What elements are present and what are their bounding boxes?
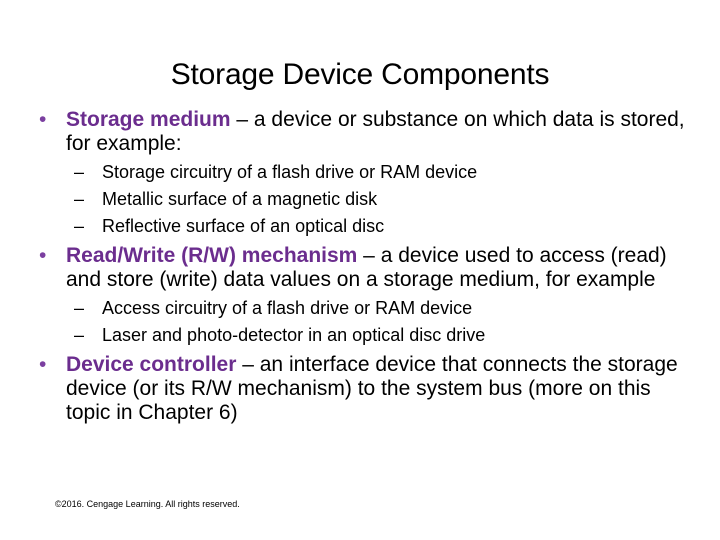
bullet-marker-icon: • <box>39 108 46 132</box>
sub-list-storage-medium: – Storage circuitry of a flash drive or … <box>28 161 692 237</box>
bullet-marker-icon: • <box>39 244 46 268</box>
sub-bullet-label: Storage circuitry of a flash drive or RA… <box>102 162 477 182</box>
sub-bullet-label: Reflective surface of an optical disc <box>102 216 384 236</box>
bullet-term-storage-medium: Storage medium <box>66 108 231 131</box>
page-title: Storage Device Components <box>0 58 720 91</box>
bullet-term-read-write-mechanism: Read/Write (R/W) mechanism <box>66 244 357 267</box>
copyright-footer: ©2016. Cengage Learning. All rights rese… <box>55 498 240 510</box>
sub-bullet-label: Laser and photo-detector in an optical d… <box>102 325 485 345</box>
bullet-item-device-controller: • Device controller – an interface devic… <box>28 353 692 425</box>
sub-bullet-marker-icon: – <box>74 161 84 183</box>
sub-bullet-item: – Reflective surface of an optical disc <box>28 215 692 237</box>
sub-bullet-item: – Metallic surface of a magnetic disk <box>28 188 692 210</box>
bullet-group-device-controller: • Device controller – an interface devic… <box>28 353 692 425</box>
sub-bullet-label: Metallic surface of a magnetic disk <box>102 189 377 209</box>
sub-list-read-write-mechanism: – Access circuitry of a flash drive or R… <box>28 297 692 346</box>
presentation-slide: Storage Device Components • Storage medi… <box>0 0 720 540</box>
bullet-term-device-controller: Device controller <box>66 353 236 376</box>
sub-bullet-marker-icon: – <box>74 215 84 237</box>
bullet-group-storage-medium: • Storage medium – a device or substance… <box>28 108 692 237</box>
bullet-item-read-write-mechanism: • Read/Write (R/W) mechanism – a device … <box>28 244 692 292</box>
sub-bullet-item: – Storage circuitry of a flash drive or … <box>28 161 692 183</box>
bullet-item-storage-medium: • Storage medium – a device or substance… <box>28 108 692 156</box>
bullet-marker-icon: • <box>39 353 46 377</box>
sub-bullet-item: – Laser and photo-detector in an optical… <box>28 324 692 346</box>
sub-bullet-label: Access circuitry of a flash drive or RAM… <box>102 298 472 318</box>
sub-bullet-marker-icon: – <box>74 188 84 210</box>
bullet-group-read-write-mechanism: • Read/Write (R/W) mechanism – a device … <box>28 244 692 346</box>
slide-body: • Storage medium – a device or substance… <box>28 108 692 427</box>
sub-bullet-marker-icon: – <box>74 324 84 346</box>
sub-bullet-item: – Access circuitry of a flash drive or R… <box>28 297 692 319</box>
sub-bullet-marker-icon: – <box>74 297 84 319</box>
